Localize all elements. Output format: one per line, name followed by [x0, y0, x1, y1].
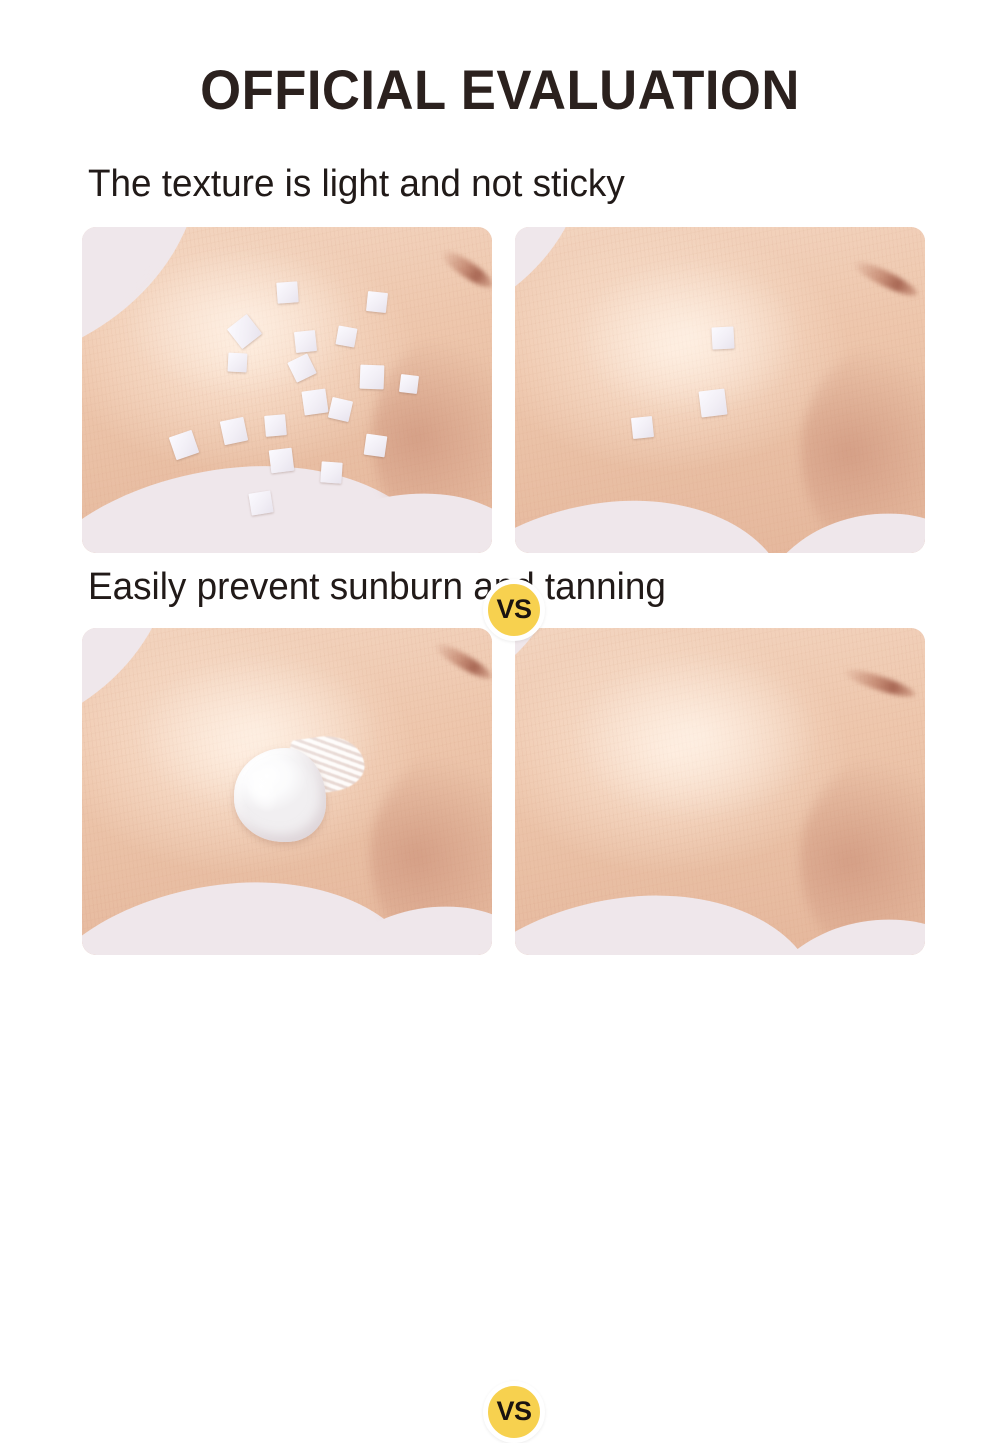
- section-heading-sunburn: Easily prevent sunburn and tanning: [88, 568, 666, 606]
- photo-panel-cream-applied: [82, 628, 492, 955]
- comparison-row-texture: VS: [82, 227, 925, 553]
- paper-square: [335, 325, 357, 347]
- paper-square: [711, 326, 734, 349]
- paper-square: [366, 291, 388, 313]
- paper-square: [360, 365, 385, 390]
- paper-square: [364, 434, 388, 458]
- paper-square: [320, 461, 342, 483]
- vs-badge-label: VS: [496, 1398, 531, 1425]
- hand-highlight: [570, 652, 820, 822]
- vs-badge-label: VS: [496, 596, 531, 623]
- hand-highlight: [575, 257, 805, 417]
- paper-square: [699, 389, 728, 418]
- page-title: OFFICIAL EVALUATION: [30, 62, 970, 118]
- photo-panel-many-squares: [82, 227, 492, 553]
- paper-square: [248, 490, 273, 515]
- paper-square: [301, 388, 328, 415]
- section-heading-texture: The texture is light and not sticky: [88, 165, 625, 203]
- photo-panel-cream-absorbed: [515, 628, 925, 955]
- paper-square: [264, 414, 287, 437]
- paper-square: [228, 353, 248, 373]
- paper-square: [220, 417, 248, 445]
- paper-square: [269, 448, 295, 474]
- comparison-row-sunburn: VS: [82, 628, 925, 955]
- paper-square: [276, 281, 298, 303]
- paper-square: [294, 330, 317, 353]
- cream-dollop: [234, 734, 360, 842]
- vs-badge-texture: VS: [483, 579, 545, 641]
- photo-panel-few-squares: [515, 227, 925, 553]
- vs-badge-sunburn: VS: [483, 1381, 545, 1443]
- paper-square: [399, 374, 419, 394]
- paper-square: [631, 416, 654, 439]
